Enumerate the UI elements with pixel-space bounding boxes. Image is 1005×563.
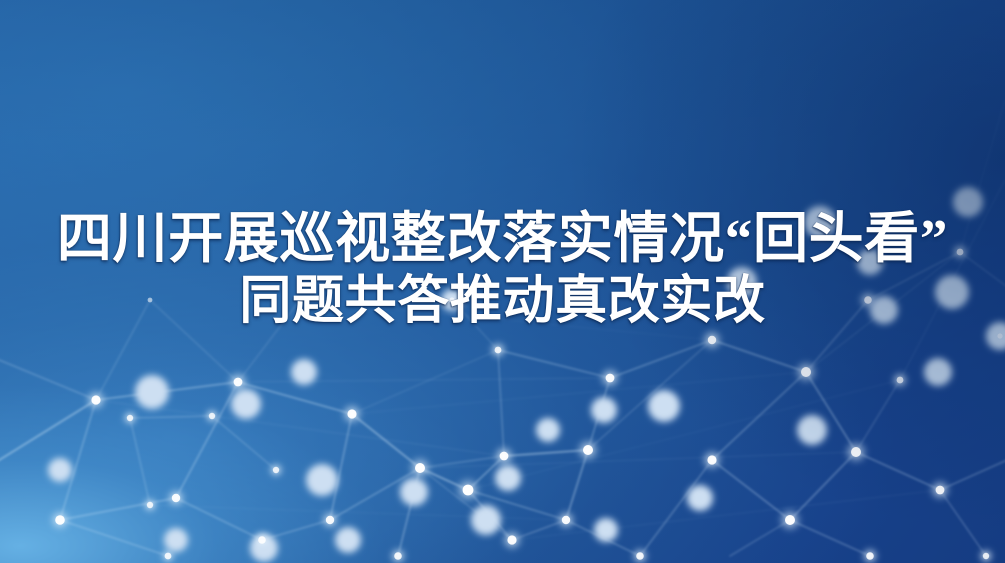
headline-line-1: 四川开展巡视整改落实情况“回头看” — [18, 207, 987, 271]
headline-line-2: 同题共答推动真改实改 — [18, 271, 987, 333]
banner-headline: 四川开展巡视整改落实情况“回头看” 同题共答推动真改实改 — [0, 207, 1005, 333]
news-hero-banner: 四川开展巡视整改落实情况“回头看” 同题共答推动真改实改 — [0, 0, 1005, 563]
